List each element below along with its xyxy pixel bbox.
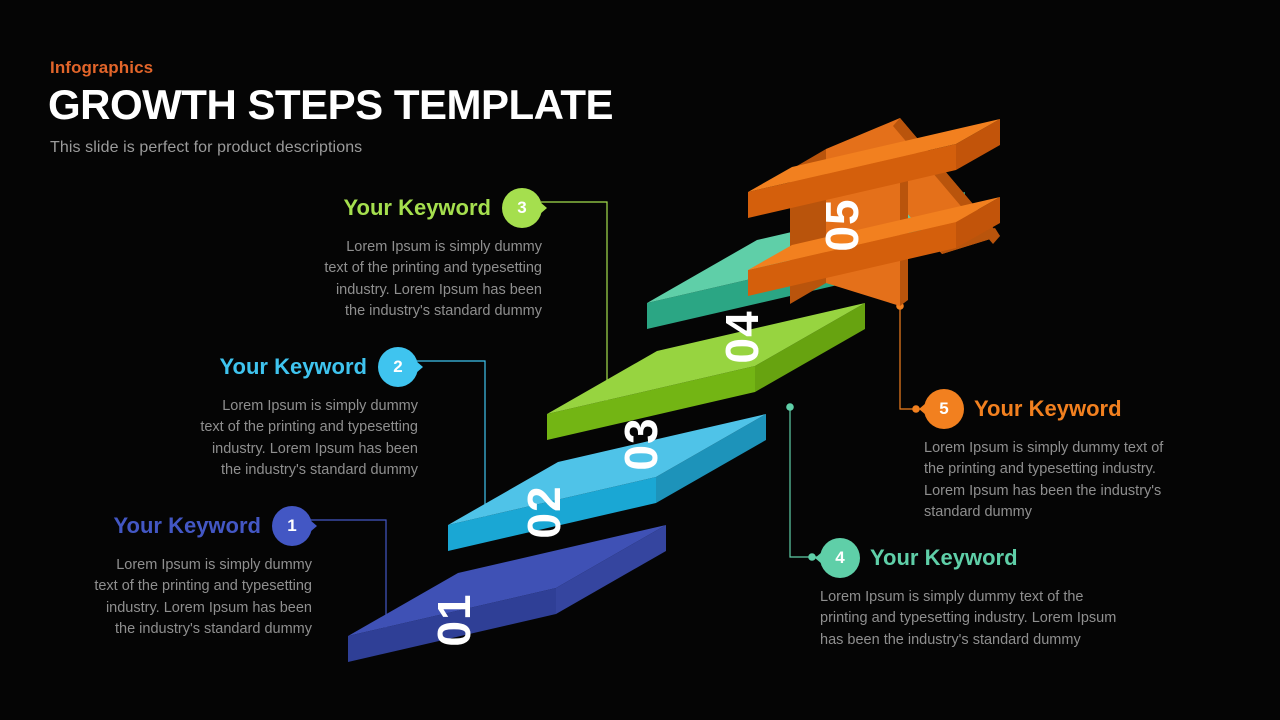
step-3-body: Lorem Ipsum is simply dummy text of the … (320, 237, 542, 322)
step-03-number: 03 (615, 417, 667, 470)
step-4-keyword: Your Keyword (870, 547, 1018, 569)
connector-line-2 (416, 361, 485, 523)
step-3-badge-number: 3 (517, 198, 526, 218)
step-callout-4-header: 4 Your Keyword (820, 538, 1150, 578)
step-5-body: Lorem Ipsum is simply dummy text of the … (924, 438, 1214, 523)
step-3-keyword: Your Keyword (343, 197, 491, 219)
connector-line-5 (900, 306, 920, 409)
step-callout-2: Your Keyword 2 Lorem Ipsum is simply dum… (192, 347, 418, 481)
step-slab-02[interactable]: 02 (448, 414, 766, 551)
step-callout-3-header: Your Keyword 3 (320, 188, 542, 228)
step-callout-4: 4 Your Keyword Lorem Ipsum is simply dum… (820, 538, 1150, 651)
step-4-body: Lorem Ipsum is simply dummy text of the … (820, 587, 1150, 651)
step-2-keyword: Your Keyword (219, 356, 367, 378)
step-callout-5-header: 5 Your Keyword (924, 389, 1214, 429)
step-1-body: Lorem Ipsum is simply dummy text of the … (86, 555, 312, 640)
connector-line-4 (790, 407, 818, 557)
step-callout-1-header: Your Keyword 1 (86, 506, 312, 546)
step-2-body: Lorem Ipsum is simply dummy text of the … (192, 396, 418, 481)
connector-line-3 (541, 202, 607, 412)
connector-dot-4 (786, 403, 794, 411)
step-callout-3: Your Keyword 3 Lorem Ipsum is simply dum… (320, 188, 542, 322)
step-05-number: 05 (816, 198, 868, 251)
slide-canvas: Infographics GROWTH STEPS TEMPLATE This … (0, 0, 1280, 720)
step-5-badge[interactable]: 5 (924, 389, 964, 429)
step-01-number: 01 (428, 593, 480, 646)
step-1-badge-number: 1 (287, 516, 296, 536)
step-1-keyword: Your Keyword (113, 515, 261, 537)
step-callout-2-header: Your Keyword 2 (192, 347, 418, 387)
step-4-badge-number: 4 (835, 548, 844, 568)
step-3-badge[interactable]: 3 (502, 188, 542, 228)
step-2-badge[interactable]: 2 (378, 347, 418, 387)
step-04-number: 04 (716, 310, 768, 363)
step-1-badge[interactable]: 1 (272, 506, 312, 546)
connector-line-1 (310, 520, 386, 634)
step-4-badge[interactable]: 4 (820, 538, 860, 578)
step-02-number: 02 (518, 485, 570, 538)
step-5-keyword: Your Keyword (974, 398, 1122, 420)
step-5-badge-number: 5 (939, 399, 948, 419)
step-slab-01[interactable]: 01 (348, 525, 666, 662)
step-callout-5: 5 Your Keyword Lorem Ipsum is simply dum… (924, 389, 1214, 523)
step-callout-1: Your Keyword 1 Lorem Ipsum is simply dum… (86, 506, 312, 640)
step-2-badge-number: 2 (393, 357, 402, 377)
